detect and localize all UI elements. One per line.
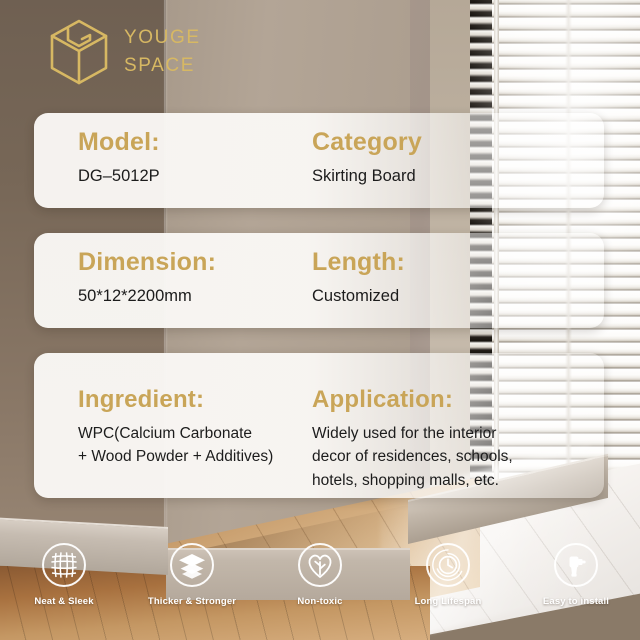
spec-card-ingredient-application: Ingredient: WPC(Calcium Carbonate + Wood… — [34, 353, 604, 498]
spec-value-model: DG–5012P — [78, 165, 302, 188]
spec-label-dimension: Dimension: — [78, 247, 302, 278]
spec-label-model: Model: — [78, 127, 302, 158]
spec-field-application: Application: Widely used for the interio… — [302, 367, 602, 484]
feature-thicker-stronger: Thicker & Stronger — [128, 543, 256, 623]
heart-leaf-icon — [298, 543, 342, 587]
spec-field-dimension: Dimension: 50*12*2200mm — [34, 247, 302, 314]
spec-label-ingredient: Ingredient: — [78, 385, 302, 415]
feature-label-neat-sleek: Neat & Sleek — [34, 596, 93, 607]
feature-badge-row: Neat & Sleek Thicker & Stronger — [0, 543, 640, 623]
feature-neat-sleek: Neat & Sleek — [0, 543, 128, 623]
mesh-grid-icon — [42, 543, 86, 587]
feature-easy-to-install: Easy to install — [512, 543, 640, 623]
spec-value-ingredient: WPC(Calcium Carbonate + Wood Powder + Ad… — [78, 422, 302, 469]
spec-card-model-category: Model: DG–5012P Category Skirting Board — [34, 113, 604, 208]
feature-long-lifespan: Long Lifespan — [384, 543, 512, 623]
spec-field-ingredient: Ingredient: WPC(Calcium Carbonate + Wood… — [34, 367, 302, 484]
spec-value-category: Skirting Board — [312, 165, 602, 188]
spec-label-category: Category — [312, 127, 602, 158]
cube-box-icon — [48, 18, 110, 86]
spec-field-model: Model: DG–5012P — [34, 127, 302, 194]
spec-value-dimension: 50*12*2200mm — [78, 285, 302, 308]
brand-name-line1: YOUGE — [124, 24, 201, 52]
feature-label-non-toxic: Non-toxic — [297, 596, 342, 607]
brand-name: YOUGE SPACE — [124, 24, 201, 79]
brand-name-line2: SPACE — [124, 52, 201, 80]
feature-label-long-lifespan: Long Lifespan — [415, 596, 482, 607]
power-drill-icon — [554, 543, 598, 587]
spec-label-application: Application: — [312, 385, 602, 415]
spec-label-length: Length: — [312, 247, 602, 278]
spec-field-length: Length: Customized — [302, 247, 602, 314]
spec-field-category: Category Skirting Board — [302, 127, 602, 194]
clock-icon — [426, 543, 470, 587]
brand-logo: YOUGE SPACE — [48, 18, 201, 86]
feature-non-toxic: Non-toxic — [256, 543, 384, 623]
stacked-layers-icon — [170, 543, 214, 587]
feature-label-easy-to-install: Easy to install — [543, 596, 609, 607]
spec-value-application: Widely used for the interior decor of re… — [312, 422, 602, 492]
spec-value-length: Customized — [312, 285, 602, 308]
spec-card-dimension-length: Dimension: 50*12*2200mm Length: Customiz… — [34, 233, 604, 328]
feature-label-thicker-stronger: Thicker & Stronger — [148, 596, 236, 607]
product-spec-banner: YOUGE SPACE Model: DG–5012P Category Ski… — [0, 0, 640, 640]
